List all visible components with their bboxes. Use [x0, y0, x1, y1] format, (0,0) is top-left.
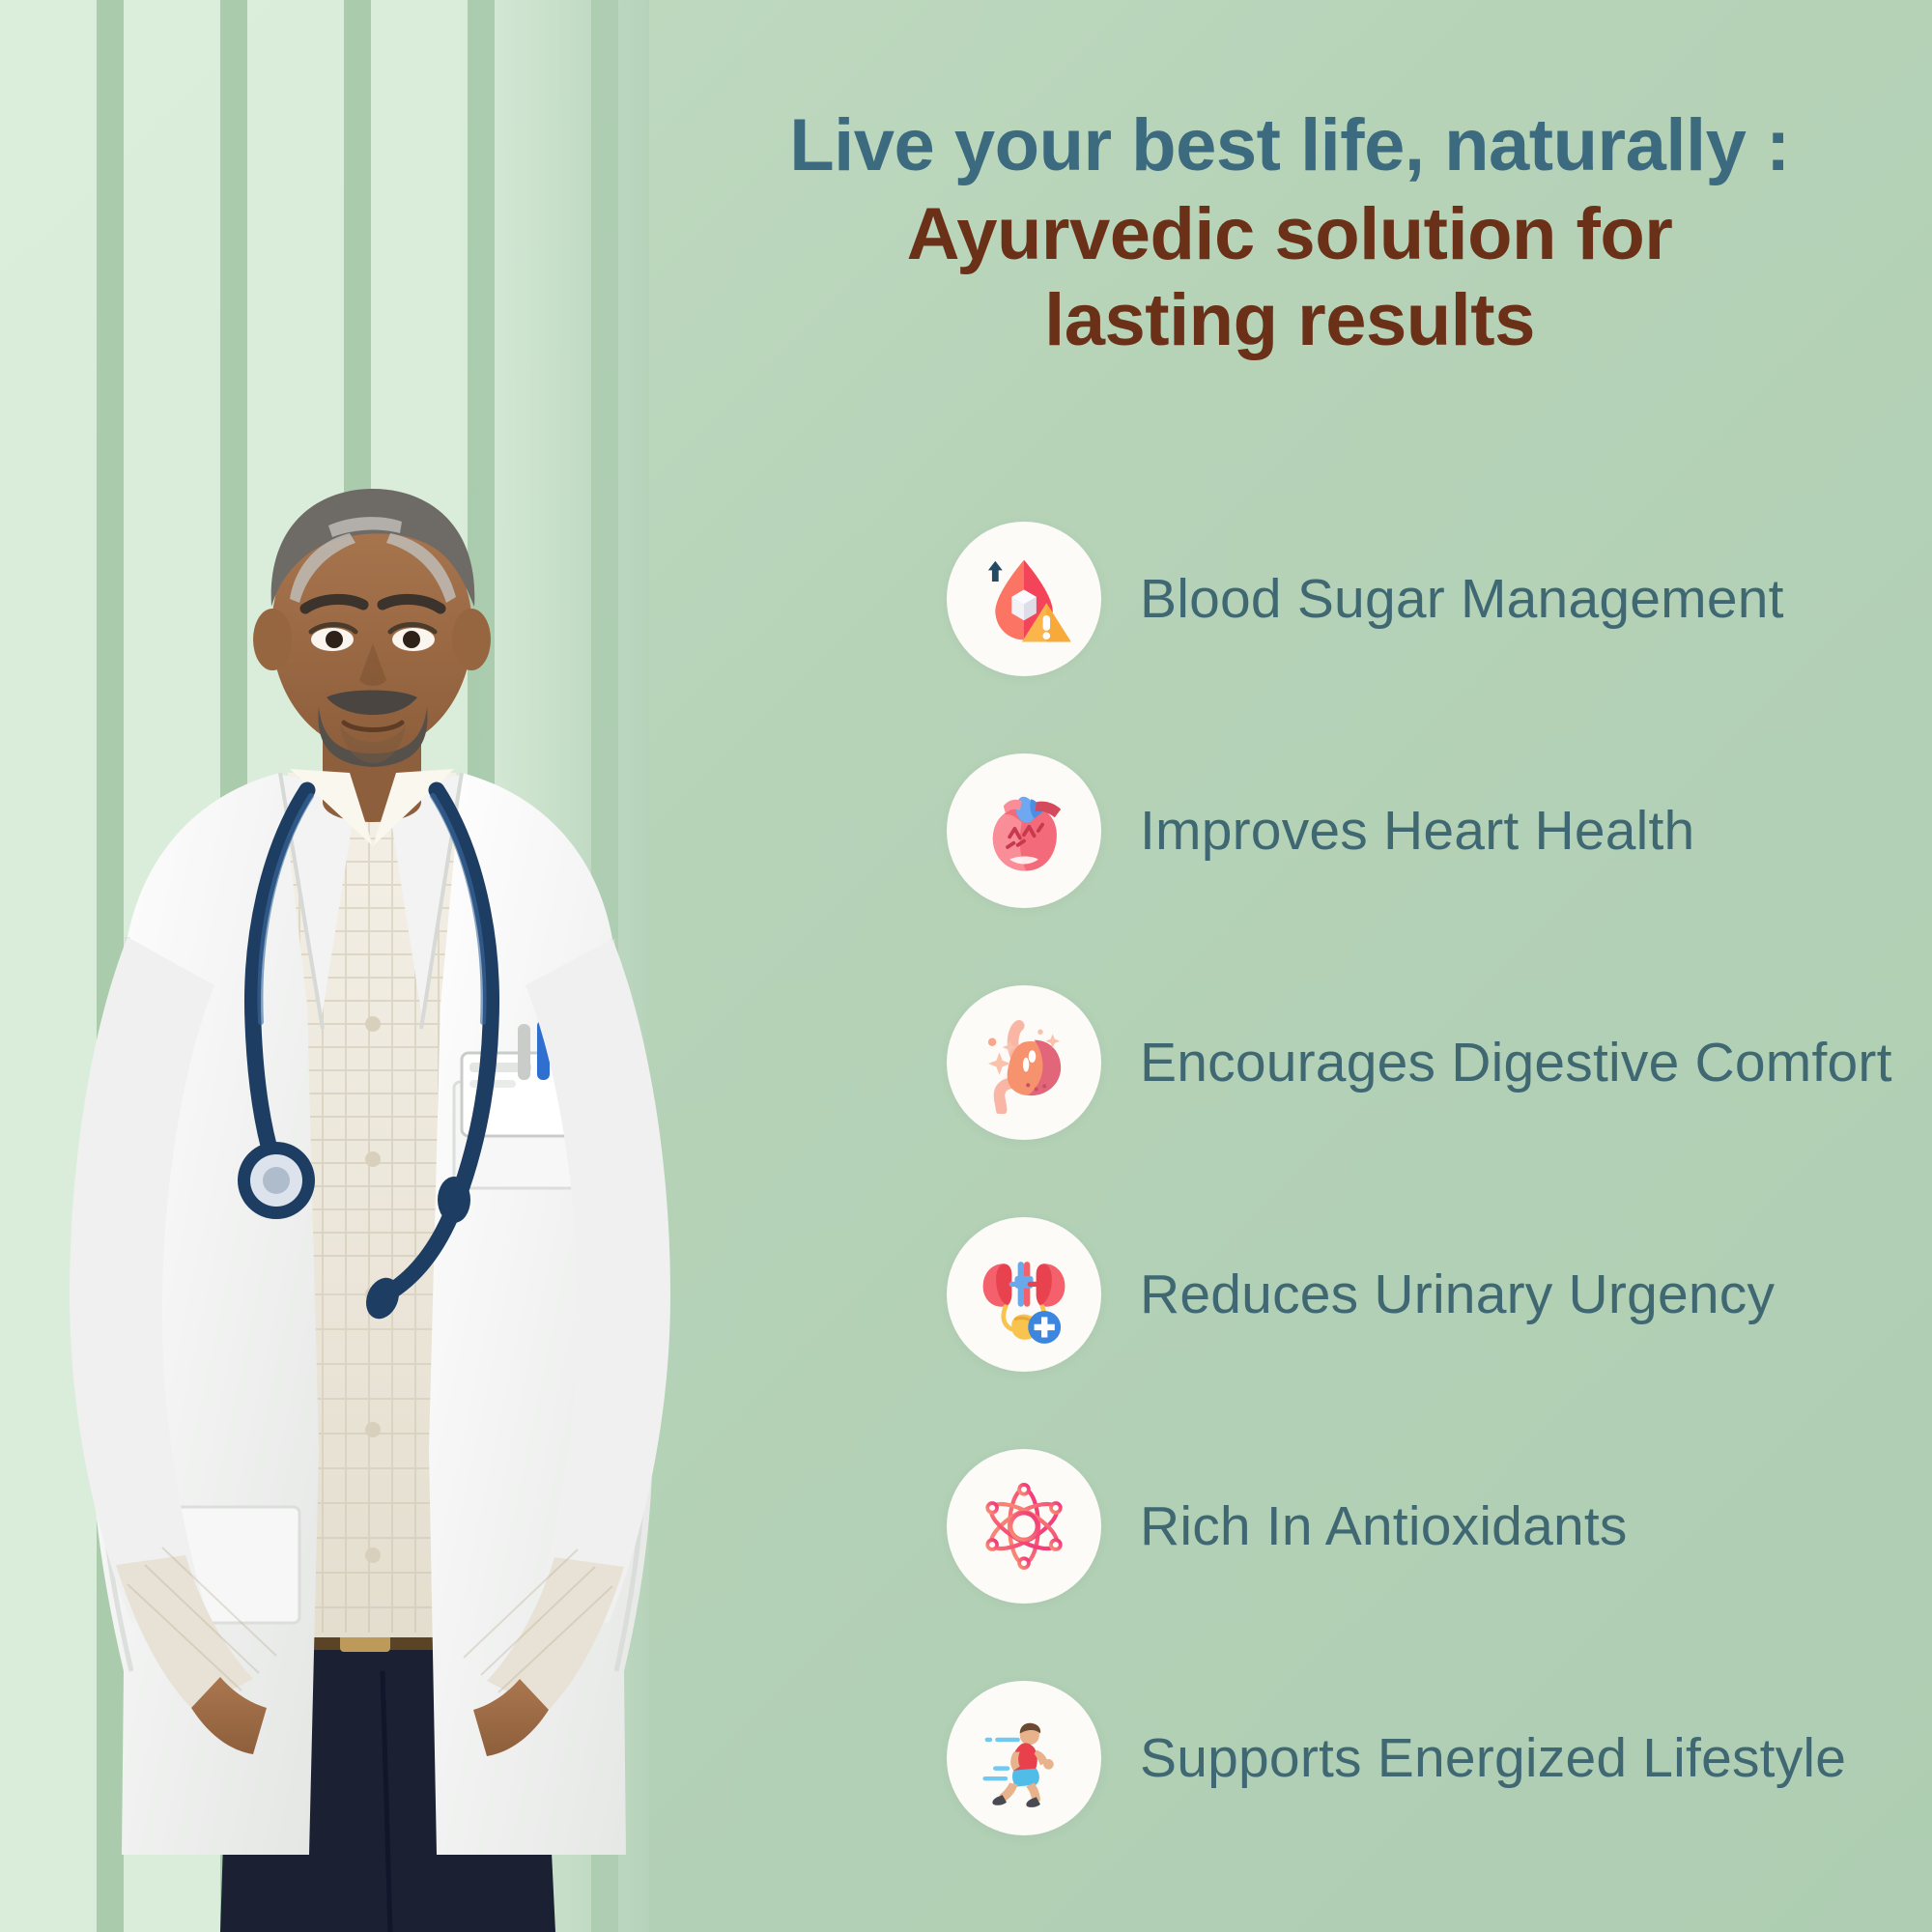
atom-antioxidant-icon [947, 1449, 1101, 1604]
pen-grey [518, 1024, 530, 1080]
ear-right [452, 609, 491, 670]
blood-sugar-drop-icon [947, 522, 1101, 676]
feature-label: Improves Heart Health [1140, 798, 1694, 864]
feature-item-antioxidants[interactable]: Rich In Antioxidants [947, 1410, 1922, 1642]
doctor-illustration [0, 483, 734, 1932]
headline-block: Live your best life, naturally : Ayurved… [667, 108, 1913, 358]
headline-line-1: Live your best life, naturally : [667, 108, 1913, 184]
feature-item-energized-lifestyle[interactable]: Supports Energized Lifestyle [947, 1642, 1922, 1874]
running-person-icon [947, 1681, 1101, 1835]
feature-label: Supports Energized Lifestyle [1140, 1725, 1846, 1791]
feature-item-heart-health[interactable]: Improves Heart Health [947, 715, 1922, 947]
stethoscope-earpiece-tip [438, 1177, 470, 1223]
feature-item-digestive-comfort[interactable]: Encourages Digestive Comfort [947, 947, 1922, 1179]
feature-label: Reduces Urinary Urgency [1140, 1262, 1775, 1327]
poster-canvas: Live your best life, naturally : Ayurved… [0, 0, 1932, 1932]
benefits-list: Blood Sugar Management [947, 483, 1922, 1874]
feature-label: Encourages Digestive Comfort [1140, 1030, 1892, 1095]
feature-label: Blood Sugar Management [1140, 566, 1784, 632]
kidneys-bladder-icon [947, 1217, 1101, 1372]
feature-item-urinary-urgency[interactable]: Reduces Urinary Urgency [947, 1179, 1922, 1410]
heart-anatomy-icon [947, 753, 1101, 908]
stomach-digestion-icon [947, 985, 1101, 1140]
ear-left [253, 609, 292, 670]
feature-item-blood-sugar[interactable]: Blood Sugar Management [947, 483, 1922, 715]
feature-label: Rich In Antioxidants [1140, 1493, 1628, 1559]
headline-line-2: Ayurvedic solution for [667, 197, 1913, 272]
headline-line-3: lasting results [667, 283, 1913, 358]
